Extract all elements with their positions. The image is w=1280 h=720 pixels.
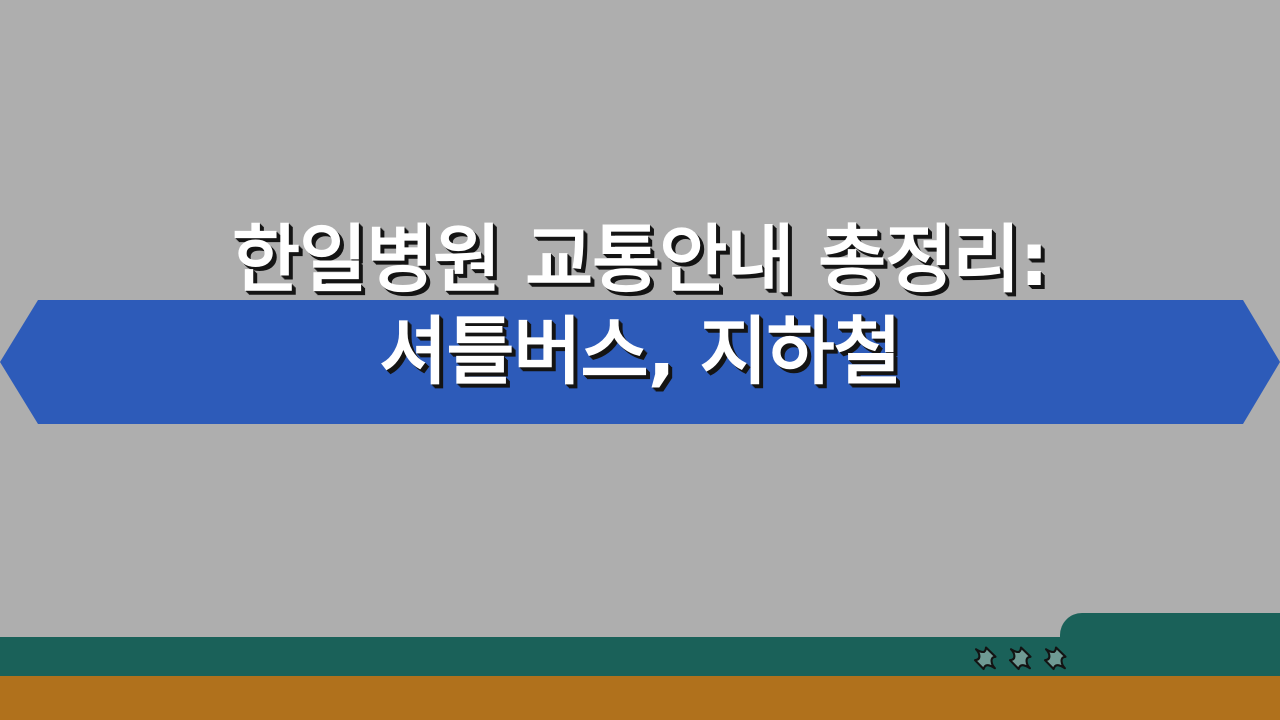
diamond-sparkle-2-icon [1007,644,1035,672]
diamond-sparkle-3-icon [1042,644,1070,672]
diamond-sparkle-1-icon [972,644,1000,672]
footer-bar [0,606,1280,676]
bottom-accent-strip [0,676,1280,720]
sparkle-row [972,643,1072,673]
blue-hexagon-ribbon [0,300,1280,424]
footer-bar-low-section [0,637,1085,676]
footer-bar-raised-section [1060,613,1280,676]
thumbnail-canvas: 한일병원 교통안내 총정리: 셔틀버스, 지하철 [0,0,1280,720]
